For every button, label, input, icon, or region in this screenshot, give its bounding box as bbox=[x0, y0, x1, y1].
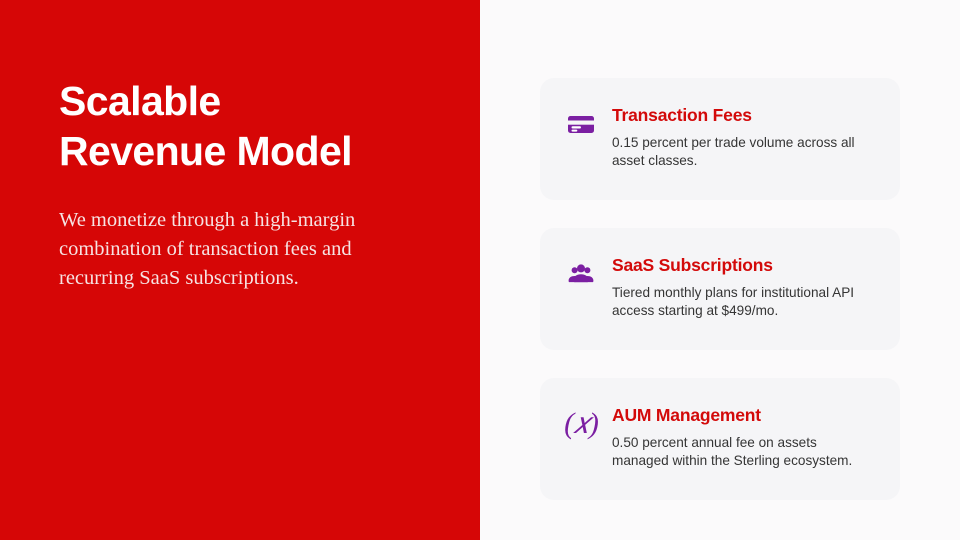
card-heading: AUM Management bbox=[612, 405, 876, 426]
title-block: Scalable Revenue Model bbox=[59, 76, 439, 176]
revenue-card-saas-subscriptions[interactable]: SaaS Subscriptions Tiered monthly plans … bbox=[540, 228, 900, 350]
card-description: 0.50 percent annual fee on assets manage… bbox=[612, 434, 876, 469]
card-description: Tiered monthly plans for institutional A… bbox=[612, 284, 876, 319]
subtitle-block: We monetize through a high-margin combin… bbox=[59, 206, 399, 293]
card-heading: Transaction Fees bbox=[612, 105, 876, 126]
revenue-stream-card-list: Transaction Fees 0.15 percent per trade … bbox=[540, 78, 900, 500]
revenue-card-aum-management[interactable]: (𝑥) AUM Management 0.50 percent annual f… bbox=[540, 378, 900, 500]
revenue-card-transaction-fees[interactable]: Transaction Fees 0.15 percent per trade … bbox=[540, 78, 900, 200]
page-title: Scalable Revenue Model bbox=[59, 76, 439, 176]
card-description: 0.15 percent per trade volume across all… bbox=[612, 134, 876, 169]
users-group-icon bbox=[564, 257, 598, 291]
slide-subtitle: We monetize through a high-margin combin… bbox=[59, 206, 399, 293]
left-red-panel: Scalable Revenue Model We monetize throu… bbox=[0, 0, 480, 540]
card-heading: SaaS Subscriptions bbox=[612, 255, 876, 276]
function-notation-glyph: (𝑥) bbox=[564, 409, 598, 439]
credit-card-icon bbox=[564, 107, 598, 141]
card-body: AUM Management 0.50 percent annual fee o… bbox=[612, 404, 876, 469]
slide-canvas: Scalable Revenue Model We monetize throu… bbox=[0, 0, 960, 540]
card-body: SaaS Subscriptions Tiered monthly plans … bbox=[612, 254, 876, 319]
function-notation-icon: (𝑥) bbox=[564, 407, 598, 441]
card-body: Transaction Fees 0.15 percent per trade … bbox=[612, 104, 876, 169]
